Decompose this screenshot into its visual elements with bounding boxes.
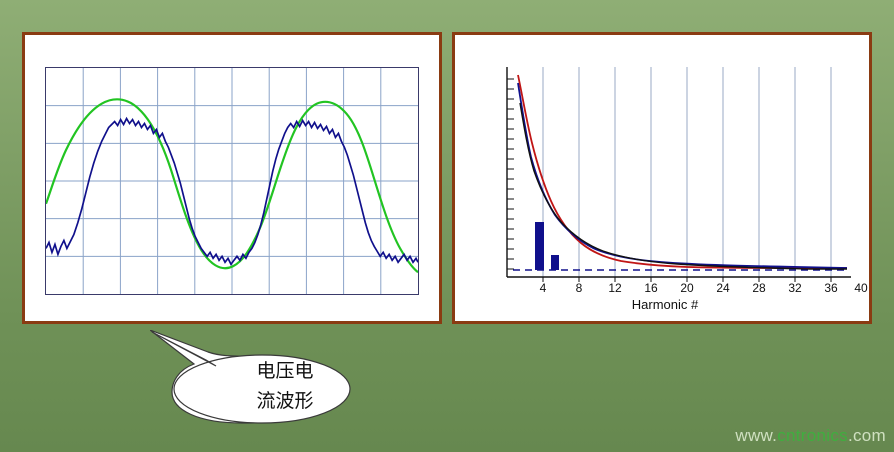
waveform-panel bbox=[22, 32, 442, 324]
harmonic-plot: 4 8 12 16 20 24 28 32 36 40 bbox=[469, 65, 855, 295]
harmonic-x-axis-label: Harmonic # bbox=[455, 297, 875, 312]
watermark-suffix: .com bbox=[848, 426, 886, 445]
watermark-brand: cntronics bbox=[777, 426, 848, 445]
waveform-plot bbox=[45, 67, 419, 295]
black-curve bbox=[520, 103, 847, 269]
voltage-trace bbox=[46, 99, 418, 272]
x-tick-32: 32 bbox=[784, 281, 806, 295]
x-tick-40: 40 bbox=[850, 281, 872, 295]
harmonic-chart-svg bbox=[469, 65, 855, 295]
x-tick-20: 20 bbox=[676, 281, 698, 295]
harmonic-bar bbox=[551, 255, 559, 270]
x-tick-8: 8 bbox=[568, 281, 590, 295]
x-tick-36: 36 bbox=[820, 281, 842, 295]
callout-line-1: 电压电 bbox=[210, 356, 360, 386]
x-tick-28: 28 bbox=[748, 281, 770, 295]
harmonic-grid bbox=[543, 67, 831, 277]
watermark: www.cntronics.com bbox=[735, 426, 886, 446]
page-background: 4 8 12 16 20 24 28 32 36 40 Harmonic # 电… bbox=[0, 0, 894, 452]
x-tick-4: 4 bbox=[532, 281, 554, 295]
blue-curve bbox=[518, 83, 847, 268]
harmonic-panel: 4 8 12 16 20 24 28 32 36 40 Harmonic # bbox=[452, 32, 872, 324]
red-curve bbox=[518, 75, 847, 268]
callout-text: 电压电 流波形 bbox=[210, 356, 360, 416]
x-tick-12: 12 bbox=[604, 281, 626, 295]
waveform-traces bbox=[46, 68, 418, 294]
callout-line-2: 流波形 bbox=[210, 386, 360, 416]
watermark-prefix: www. bbox=[735, 426, 777, 445]
x-tick-24: 24 bbox=[712, 281, 734, 295]
x-tick-16: 16 bbox=[640, 281, 662, 295]
callout-bubble: 电压电 流波形 bbox=[150, 330, 388, 428]
harmonic-bar bbox=[535, 222, 544, 270]
